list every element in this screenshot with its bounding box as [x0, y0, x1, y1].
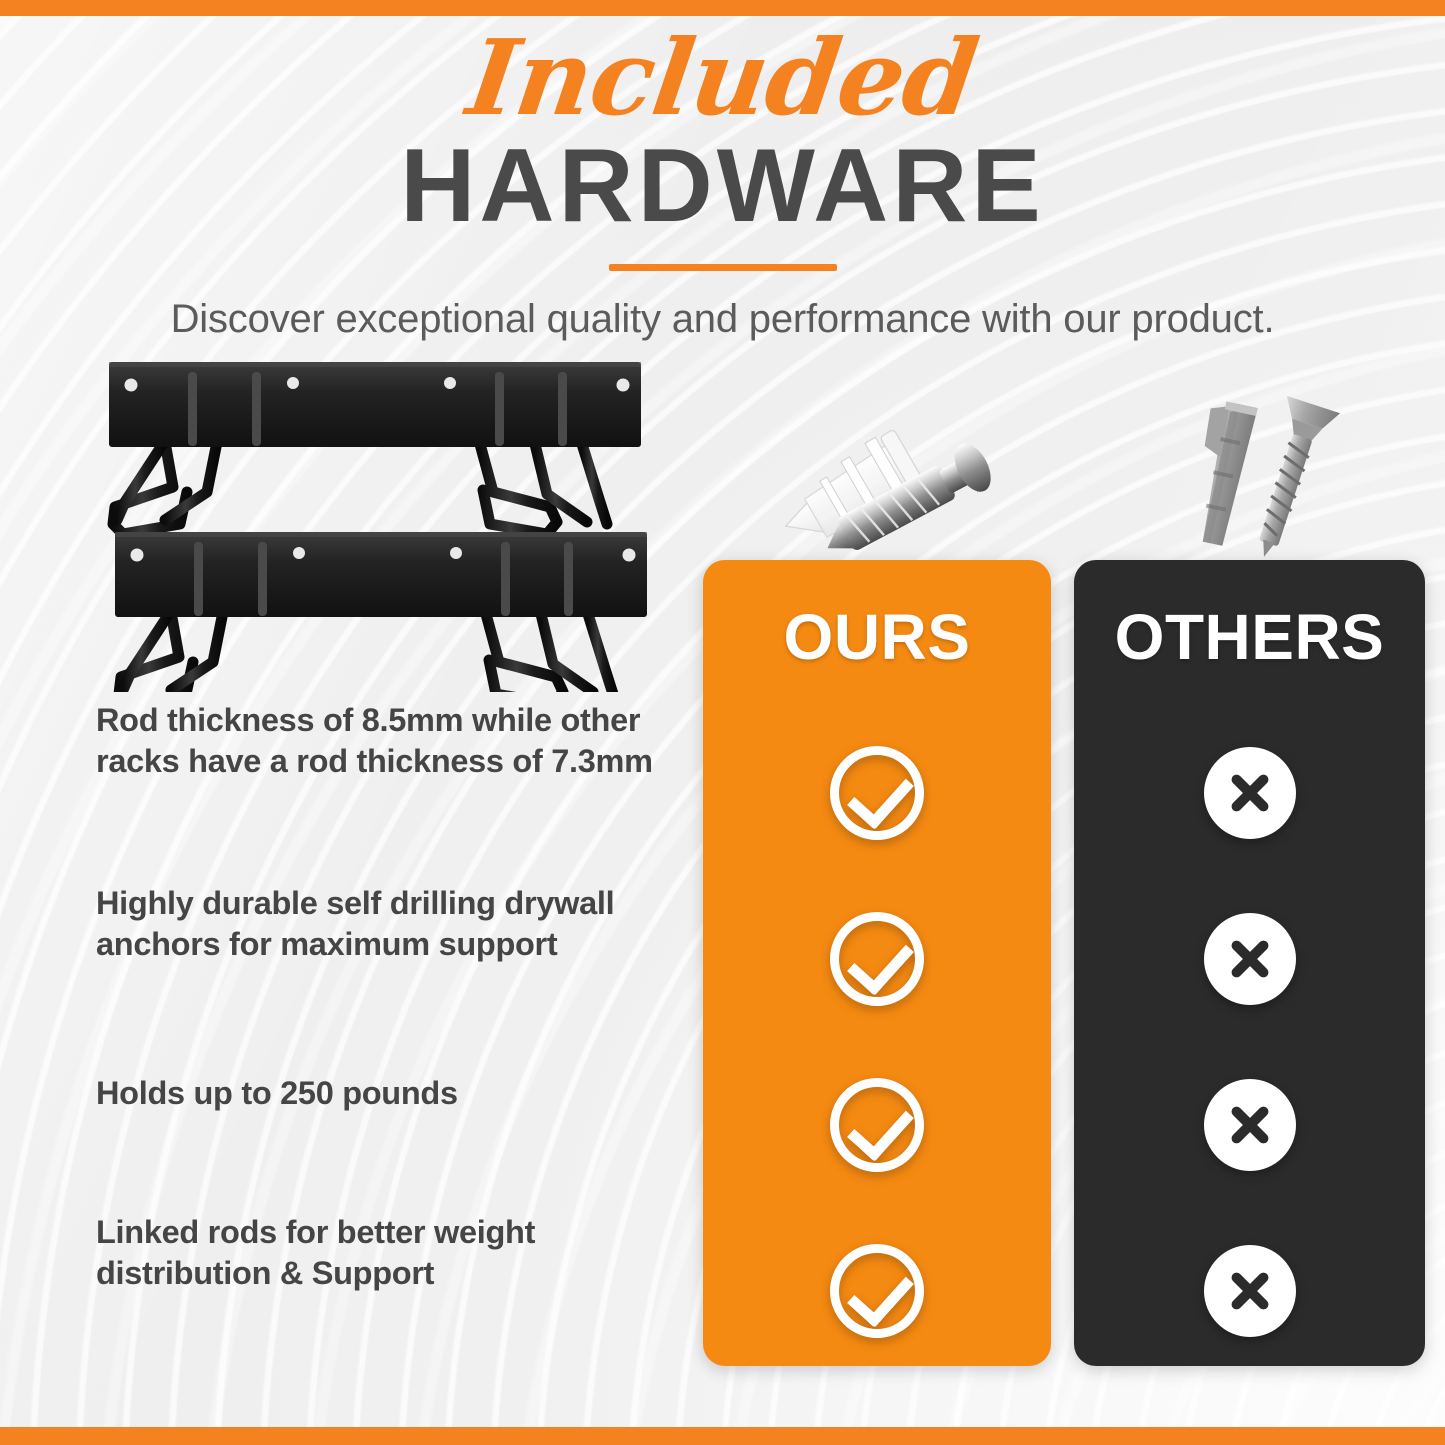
others-mark-row — [1074, 710, 1425, 876]
feature-item: Rod thickness of 8.5mm while other racks… — [96, 700, 681, 781]
bottom-accent-bar — [0, 1427, 1445, 1445]
panel-title-ours: OURS — [703, 600, 1051, 674]
top-accent-bar — [0, 0, 1445, 16]
close-icon — [1204, 1245, 1296, 1337]
ours-mark-row — [703, 1042, 1051, 1208]
header: Included HARDWARE Discover exceptional q… — [0, 26, 1445, 342]
ours-mark-row — [703, 876, 1051, 1042]
others-mark-row — [1074, 1208, 1425, 1374]
comparison-panel-ours: OURS — [703, 560, 1051, 1366]
feature-item: Highly durable self drilling drywall anc… — [96, 883, 681, 964]
script-title: Included — [0, 26, 1445, 130]
close-icon — [1204, 1079, 1296, 1171]
check-icon — [830, 746, 924, 840]
ours-mark-row — [703, 710, 1051, 876]
check-icon — [830, 1244, 924, 1338]
check-icon — [830, 912, 924, 1006]
feature-item: Holds up to 250 pounds — [96, 1073, 681, 1114]
check-icon — [830, 1078, 924, 1172]
hardware-image-wall-plug — [1165, 395, 1350, 570]
title-underline — [609, 264, 837, 271]
panel-title-others: OTHERS — [1074, 600, 1425, 674]
hardware-image-drywall-anchor — [735, 398, 1035, 573]
others-mark-row — [1074, 876, 1425, 1042]
feature-item: Linked rods for better weight distributi… — [96, 1212, 681, 1293]
close-icon — [1204, 913, 1296, 1005]
product-image-rack — [95, 352, 655, 692]
ours-mark-row — [703, 1208, 1051, 1374]
page-title: HARDWARE — [0, 134, 1445, 238]
infographic-page: Included HARDWARE Discover exceptional q… — [0, 0, 1445, 1445]
others-mark-row — [1074, 1042, 1425, 1208]
ours-mark-list — [703, 710, 1051, 1374]
close-icon — [1204, 747, 1296, 839]
subtitle: Discover exceptional quality and perform… — [0, 297, 1445, 342]
comparison-panel-others: OTHERS — [1074, 560, 1425, 1366]
others-mark-list — [1074, 710, 1425, 1374]
